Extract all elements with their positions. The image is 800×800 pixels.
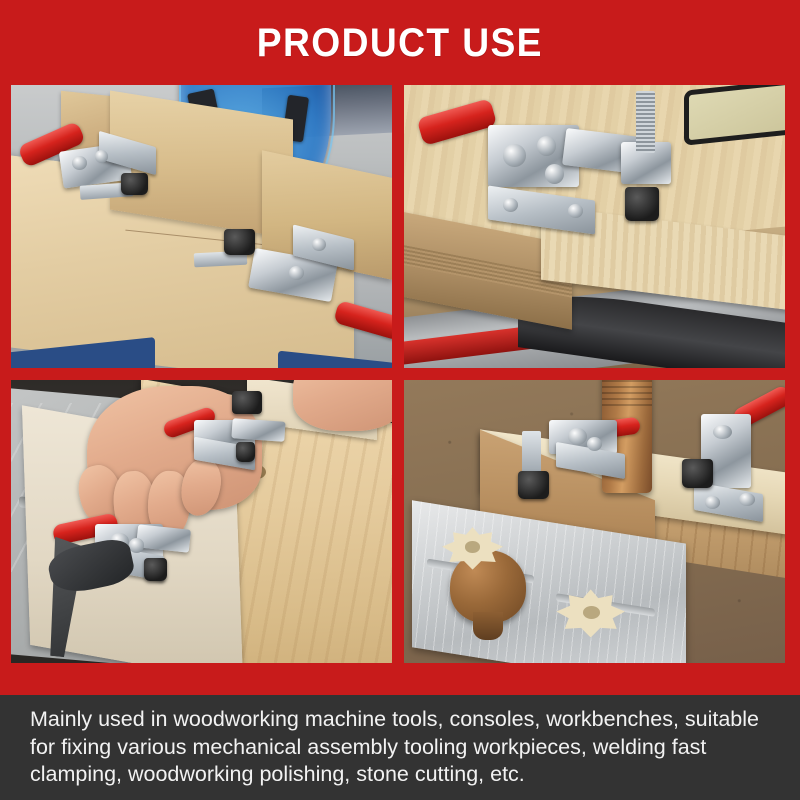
clamp-rubber-tip bbox=[236, 442, 255, 462]
photo-hands-plywood-jig bbox=[11, 380, 392, 663]
spindle-rings bbox=[602, 380, 652, 408]
clamp-base-screw bbox=[568, 204, 583, 218]
clamp-rivet bbox=[568, 428, 587, 445]
clamp-base-screw bbox=[705, 496, 720, 509]
photo-gallery bbox=[11, 85, 789, 695]
clamp-rubber-tip bbox=[144, 558, 167, 581]
photo-lathe-knob-jig bbox=[404, 380, 785, 663]
product-use-poster: PRODUCT USE bbox=[0, 0, 800, 800]
clamp-knob-black bbox=[232, 391, 262, 414]
caption-text: Mainly used in woodworking machine tools… bbox=[0, 706, 800, 789]
clamp-rivet bbox=[587, 437, 602, 451]
star-blank-hole bbox=[465, 541, 480, 552]
clamp-rivet bbox=[537, 136, 556, 156]
clamp-rivet bbox=[95, 150, 108, 162]
clamp-rivet bbox=[72, 156, 87, 170]
clamp-rivet bbox=[503, 144, 526, 167]
clamp-arm bbox=[231, 418, 286, 441]
clamp-rubber-tip bbox=[121, 173, 148, 196]
photo-router-table-sled bbox=[11, 85, 392, 368]
clamp-threaded-spindle bbox=[636, 91, 655, 153]
clamp-rivet bbox=[545, 164, 564, 184]
clamp-rubber-tip bbox=[682, 459, 712, 487]
clamp-spindle bbox=[522, 431, 541, 476]
clamp-rivet bbox=[312, 238, 326, 251]
page-title: PRODUCT USE bbox=[257, 23, 543, 63]
gallery-panel-clamp-closeup bbox=[404, 85, 785, 368]
header-banner: PRODUCT USE bbox=[0, 0, 800, 85]
gallery-panel-router-table-sled bbox=[11, 85, 392, 368]
second-hand bbox=[293, 380, 392, 431]
photo-clamp-closeup-table-saw bbox=[404, 85, 785, 368]
knob-stem bbox=[473, 612, 503, 640]
caption-bar: Mainly used in woodworking machine tools… bbox=[0, 695, 800, 800]
clamp-rubber-tip bbox=[224, 229, 254, 254]
gallery-panel-hands-plywood-jig bbox=[11, 380, 392, 663]
clamp-base-screw bbox=[739, 493, 754, 506]
clamp-rubber-tip bbox=[625, 187, 659, 221]
clamp-rivet bbox=[129, 538, 144, 552]
clamp-rubber-tip bbox=[518, 471, 548, 499]
gallery-panel-lathe-knob-jig bbox=[404, 380, 785, 663]
